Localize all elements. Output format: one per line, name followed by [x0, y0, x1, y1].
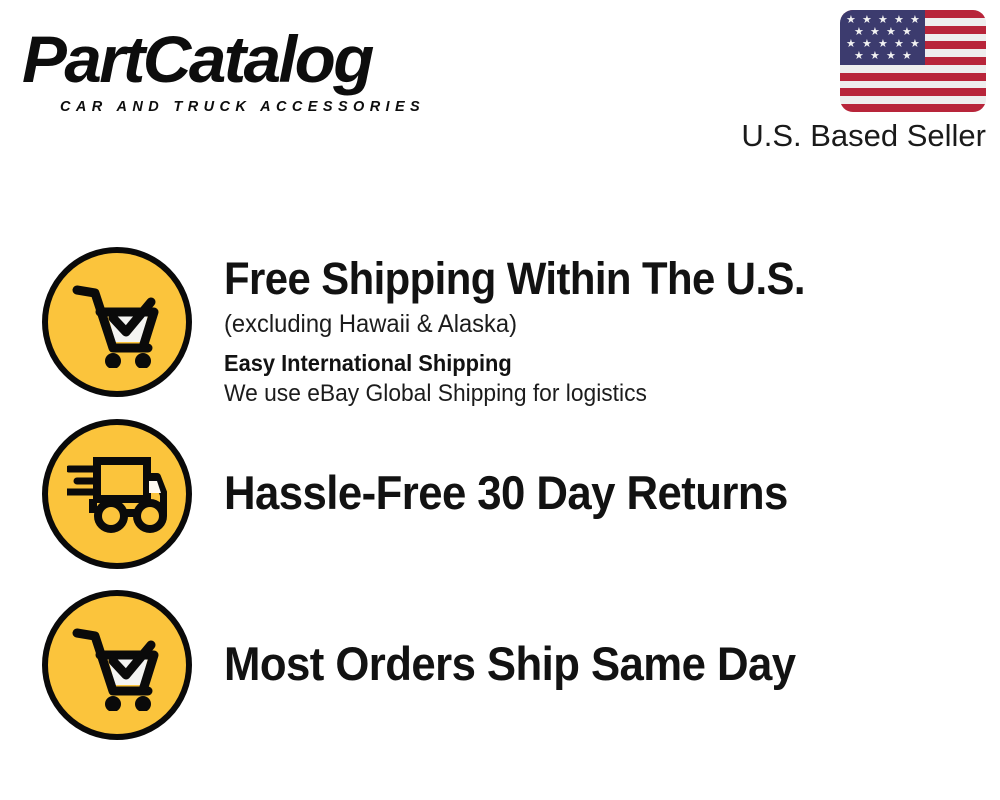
feature-row: Free Shipping Within The U.S. (excluding…: [0, 247, 1000, 409]
feature-row: Hassle-Free 30 Day Returns: [0, 419, 1000, 569]
feature-subtitle: (excluding Hawaii & Alaska): [224, 309, 961, 340]
feature-secondary-title: Easy International Shipping: [224, 349, 961, 377]
flag-stripe: [840, 65, 986, 73]
us-based-seller-block: ★ ★ ★ ★ ★ ★ ★ ★ ★ ★ ★ ★ ★ ★ ★ ★ ★: [716, 10, 986, 155]
us-flag-icon: ★ ★ ★ ★ ★ ★ ★ ★ ★ ★ ★ ★ ★ ★ ★ ★ ★: [840, 10, 986, 112]
banner-header: PartCatalog CAR AND TRUCK ACCESSORIES: [0, 0, 1000, 180]
logo-tagline: CAR AND TRUCK ACCESSORIES: [60, 98, 492, 116]
shipping-info-banner: PartCatalog CAR AND TRUCK ACCESSORIES: [0, 0, 1000, 800]
feature-text: Hassle-Free 30 Day Returns: [224, 419, 1000, 520]
shopping-cart-check-icon: [42, 590, 192, 740]
shopping-cart-check-icon: [42, 247, 192, 397]
feature-secondary-subtitle: We use eBay Global Shipping for logistic…: [224, 379, 961, 409]
logo-wordmark: PartCatalog: [22, 22, 501, 96]
flag-stripe: [840, 88, 986, 96]
flag-stripe: [840, 96, 986, 104]
flag-canton: ★ ★ ★ ★ ★ ★ ★ ★ ★ ★ ★ ★ ★ ★ ★ ★ ★: [840, 10, 925, 65]
feature-title: Hassle-Free 30 Day Returns: [224, 466, 946, 520]
brand-logo: PartCatalog CAR AND TRUCK ACCESSORIES: [22, 22, 492, 116]
flag-stripe: [840, 73, 986, 81]
us-based-seller-label: U.S. Based Seller: [716, 117, 986, 155]
feature-text: Most Orders Ship Same Day: [224, 590, 1000, 691]
feature-row: Most Orders Ship Same Day: [0, 590, 1000, 740]
flag-stripe: [840, 104, 986, 112]
feature-text: Free Shipping Within The U.S. (excluding…: [224, 247, 1000, 409]
delivery-truck-icon: [42, 419, 192, 569]
flag-stripe: [840, 81, 986, 89]
feature-title: Most Orders Ship Same Day: [224, 637, 946, 691]
feature-title: Free Shipping Within The U.S.: [224, 253, 946, 305]
